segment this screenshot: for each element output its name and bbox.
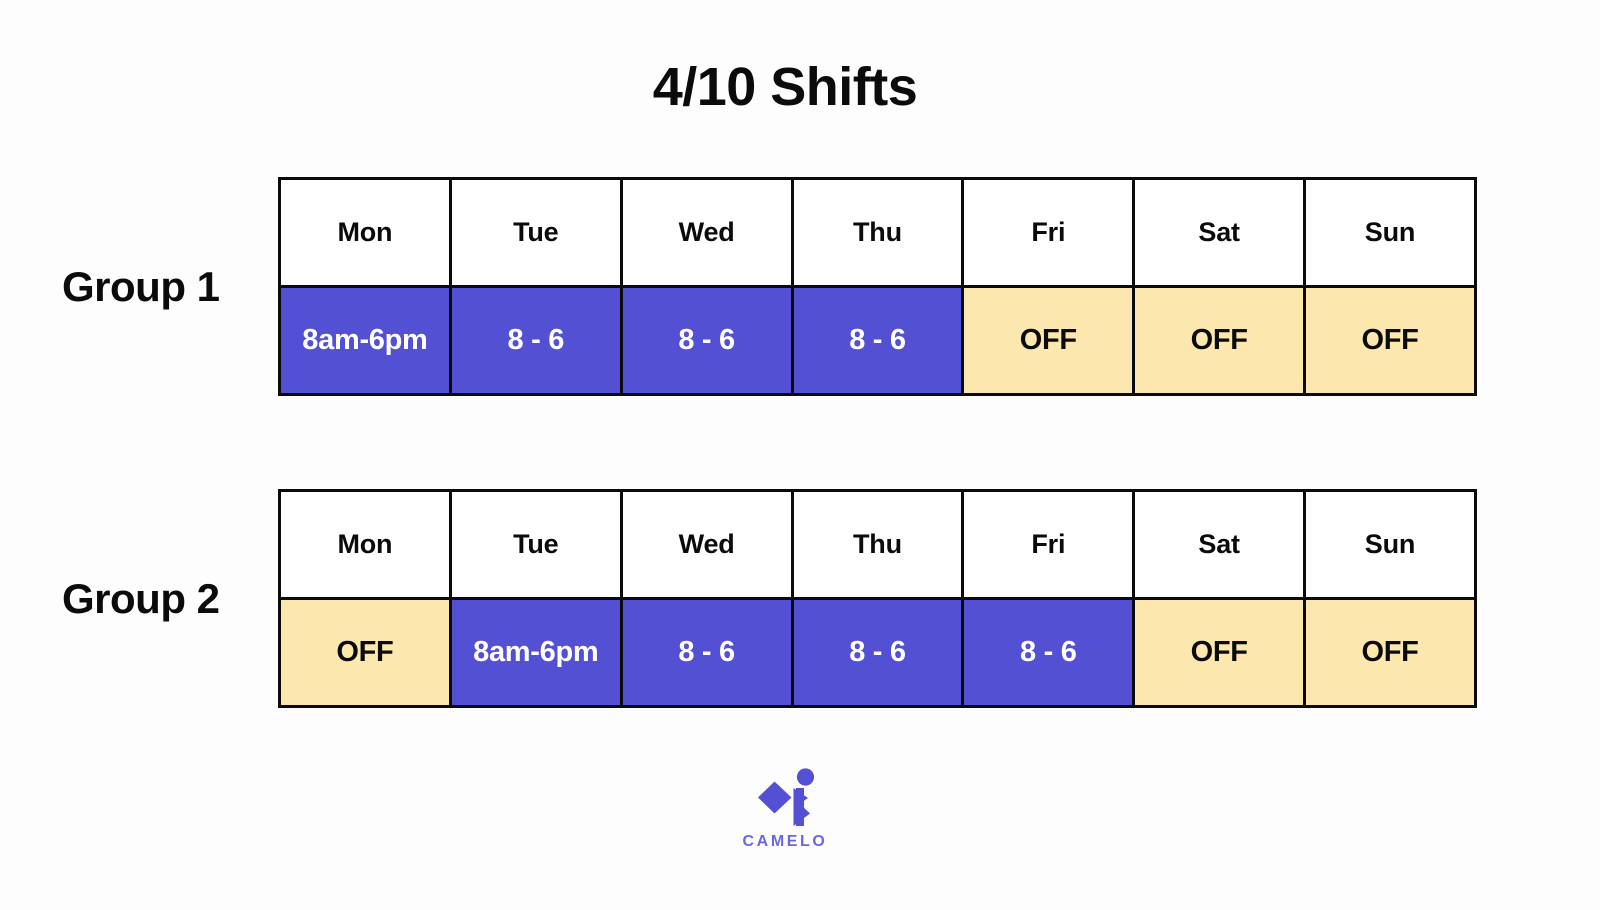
brand-name: CAMELO <box>0 833 1570 851</box>
day-header-mon: Mon <box>280 179 451 287</box>
day-header-fri: Fri <box>963 179 1134 287</box>
schedule-table-group-1: Mon Tue Wed Thu Fri Sat Sun 8am-6pm 8 - … <box>278 177 1477 396</box>
day-header-sun: Sun <box>1305 491 1476 599</box>
shift-cell-fri: OFF <box>963 287 1134 395</box>
table-row-days: Mon Tue Wed Thu Fri Sat Sun <box>280 491 1476 599</box>
day-header-tue: Tue <box>450 179 621 287</box>
group-schedule-block: Group 1 Mon Tue Wed Thu Fri Sat Sun 8am-… <box>0 177 1600 397</box>
day-header-thu: Thu <box>792 179 963 287</box>
day-header-sat: Sat <box>1134 491 1305 599</box>
shift-cell-thu: 8 - 6 <box>792 287 963 395</box>
table-row-shifts: OFF 8am-6pm 8 - 6 8 - 6 8 - 6 OFF OFF <box>280 599 1476 707</box>
day-header-wed: Wed <box>621 491 792 599</box>
camelo-logo-icon <box>752 768 818 826</box>
day-header-fri: Fri <box>963 491 1134 599</box>
shift-cell-sun: OFF <box>1305 599 1476 707</box>
shift-cell-sat: OFF <box>1134 287 1305 395</box>
shift-cell-mon: OFF <box>280 599 451 707</box>
table-row-days: Mon Tue Wed Thu Fri Sat Sun <box>280 179 1476 287</box>
group-label: Group 2 <box>62 575 277 623</box>
day-header-wed: Wed <box>621 179 792 287</box>
table-row-shifts: 8am-6pm 8 - 6 8 - 6 8 - 6 OFF OFF OFF <box>280 287 1476 395</box>
shift-cell-wed: 8 - 6 <box>621 599 792 707</box>
shift-cell-fri: 8 - 6 <box>963 599 1134 707</box>
shift-cell-tue: 8 - 6 <box>450 287 621 395</box>
schedule-table-group-2: Mon Tue Wed Thu Fri Sat Sun OFF 8am-6pm … <box>278 489 1477 708</box>
day-header-sat: Sat <box>1134 179 1305 287</box>
day-header-tue: Tue <box>450 491 621 599</box>
group-schedule-block: Group 2 Mon Tue Wed Thu Fri Sat Sun OFF … <box>0 489 1600 709</box>
shift-cell-tue: 8am-6pm <box>450 599 621 707</box>
day-header-mon: Mon <box>280 491 451 599</box>
shift-cell-wed: 8 - 6 <box>621 287 792 395</box>
day-header-thu: Thu <box>792 491 963 599</box>
brand-footer: CAMELO <box>0 768 1570 851</box>
infographic-canvas: 4/10 Shifts Group 1 Mon Tue Wed Thu Fri … <box>0 0 1600 910</box>
group-label: Group 1 <box>62 263 277 311</box>
shift-cell-thu: 8 - 6 <box>792 599 963 707</box>
page-title: 4/10 Shifts <box>0 58 1570 117</box>
shift-cell-mon: 8am-6pm <box>280 287 451 395</box>
shift-cell-sun: OFF <box>1305 287 1476 395</box>
shift-cell-sat: OFF <box>1134 599 1305 707</box>
day-header-sun: Sun <box>1305 179 1476 287</box>
